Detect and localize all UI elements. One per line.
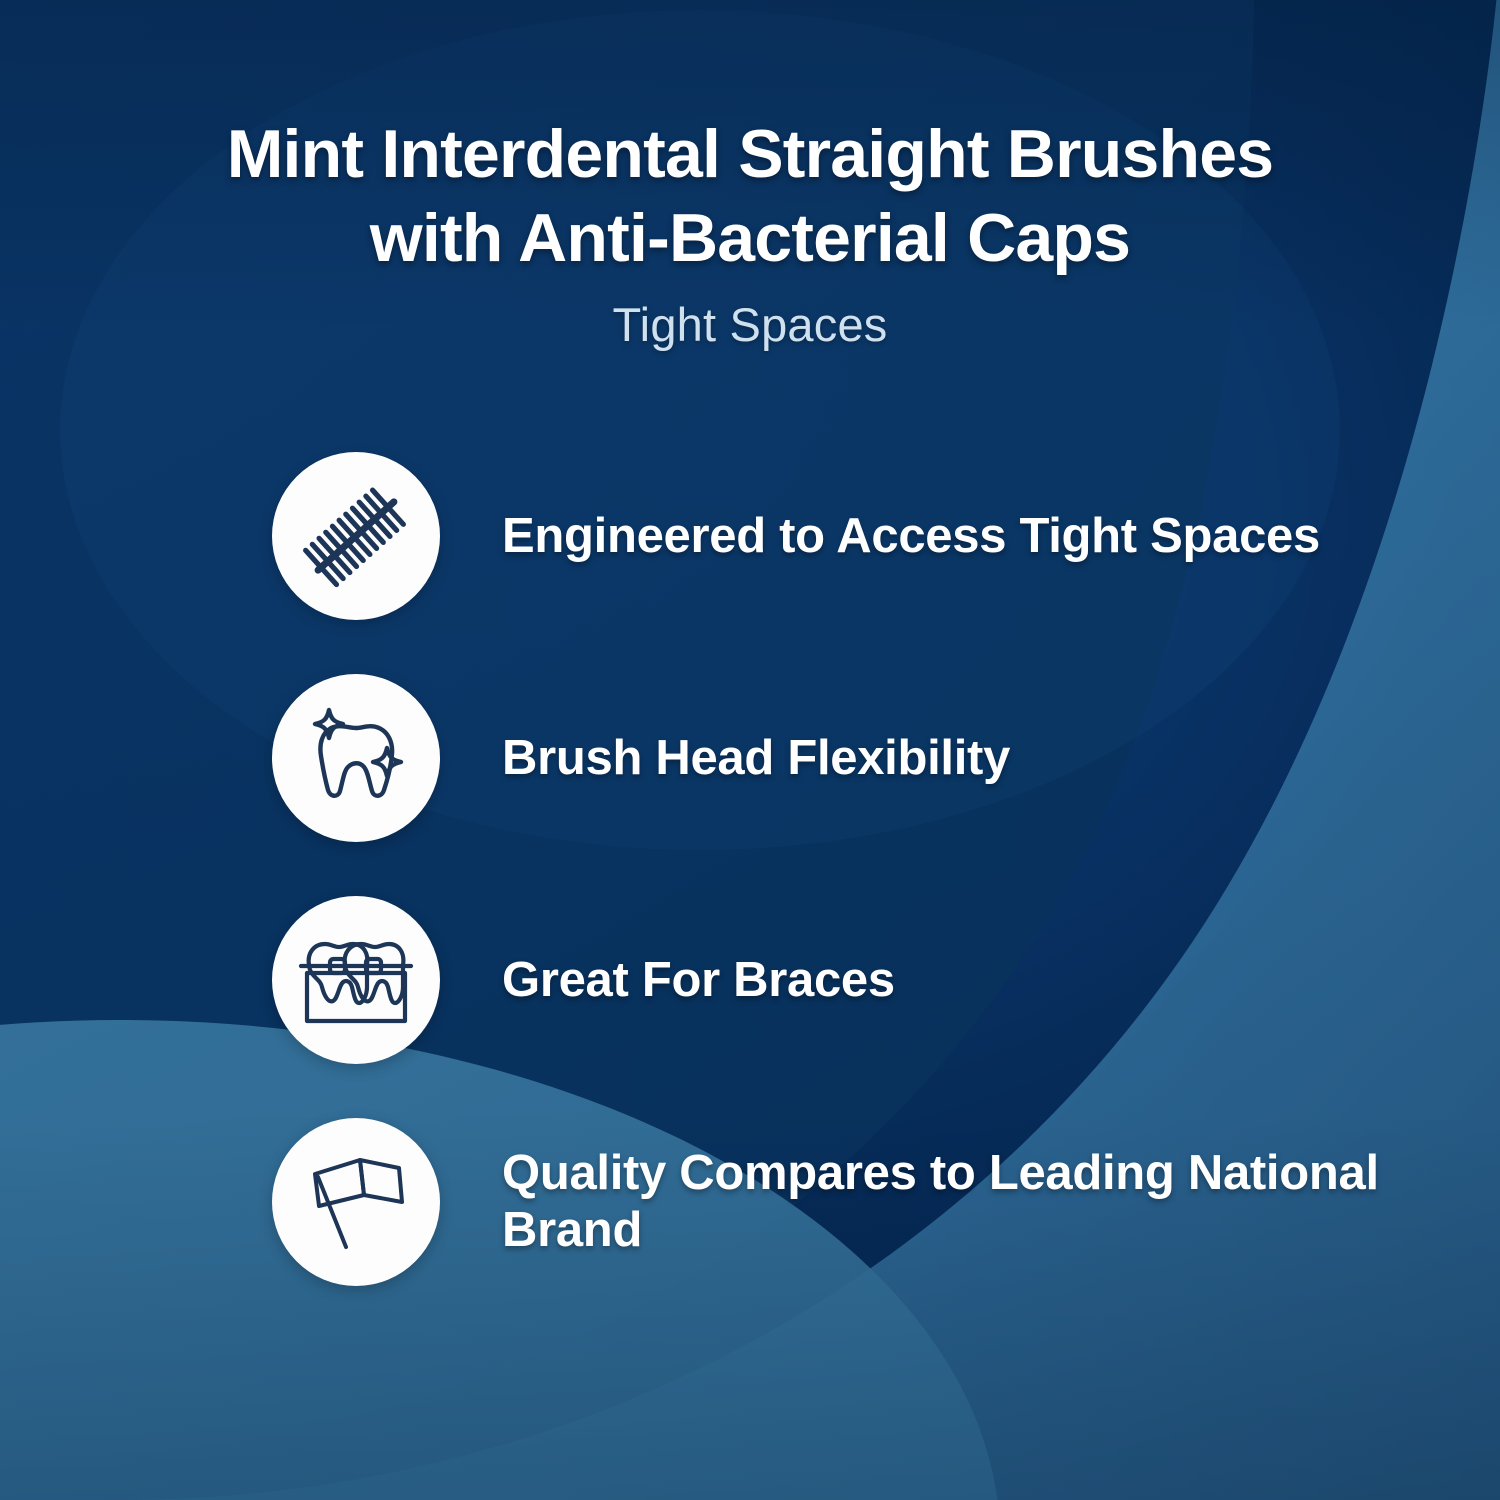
page-title: Mint Interdental Straight Brushes with A… [85, 112, 1415, 281]
feature-label: Quality Compares to Leading National Bra… [502, 1145, 1452, 1259]
feature-label: Engineered to Access Tight Spaces [502, 508, 1320, 565]
feature-item: Quality Compares to Leading National Bra… [272, 1118, 1452, 1286]
flag-icon [272, 1118, 440, 1286]
feature-label: Great For Braces [502, 952, 895, 1009]
promo-infographic: Mint Interdental Straight Brushes with A… [0, 0, 1500, 1500]
braces-teeth-icon [272, 896, 440, 1064]
sparkling-tooth-icon [272, 674, 440, 842]
feature-item: Engineered to Access Tight Spaces [272, 452, 1452, 620]
feature-item: Great For Braces [272, 896, 1452, 1064]
subtitle: Tight Spaces [0, 297, 1500, 352]
feature-list: Engineered to Access Tight Spaces Brush … [272, 452, 1452, 1286]
interdental-brush-icon [272, 452, 440, 620]
title-line-1: Mint Interdental Straight Brushes [85, 112, 1415, 196]
title-line-2: with Anti-Bacterial Caps [85, 196, 1415, 280]
feature-label: Brush Head Flexibility [502, 730, 1010, 787]
feature-item: Brush Head Flexibility [272, 674, 1452, 842]
header: Mint Interdental Straight Brushes with A… [0, 112, 1500, 352]
